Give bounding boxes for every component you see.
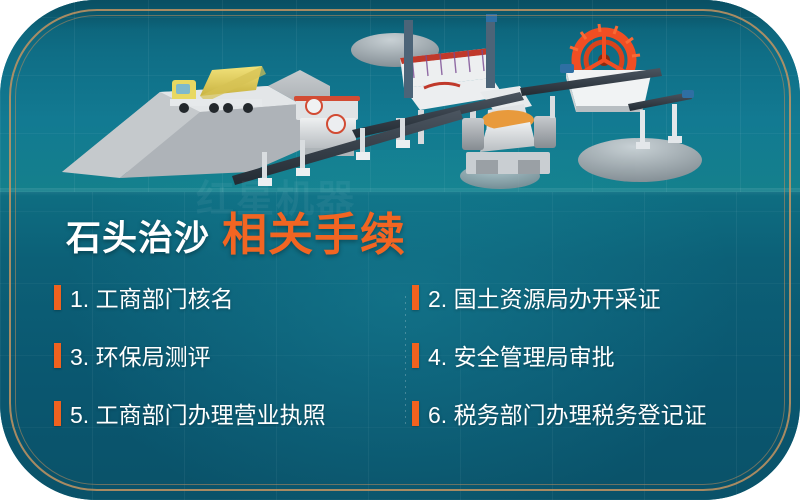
sand-washer-icon bbox=[560, 24, 652, 112]
list-item-label: 2. 国土资源局办开采证 bbox=[428, 280, 661, 314]
bullet-bar-icon bbox=[54, 343, 61, 368]
bullet-bar-icon bbox=[412, 285, 419, 310]
procedure-list: 1. 工商部门核名 2. 国土资源局办开采证 3. 环保局测评 4. 安全管理局… bbox=[54, 268, 754, 442]
list-item-label: 5. 工商部门办理营业执照 bbox=[70, 396, 326, 430]
production-line-svg bbox=[0, 0, 800, 200]
list-item: 1. 工商部门核名 bbox=[54, 268, 412, 326]
bullet-bar-icon bbox=[54, 401, 61, 426]
list-item-label: 3. 环保局测评 bbox=[70, 338, 211, 372]
list-item-label: 6. 税务部门办理税务登记证 bbox=[428, 396, 707, 430]
poster-card: 红星机器 石头治沙 相关手续 1. 工商部门核名 2. 国土资源局办开采证 3.… bbox=[0, 0, 800, 500]
list-item: 6. 税务部门办理税务登记证 bbox=[412, 384, 754, 442]
list-item: 2. 国土资源局办开采证 bbox=[412, 268, 754, 326]
production-line-illustration bbox=[0, 0, 800, 200]
page-title: 石头治沙 相关手续 bbox=[66, 198, 406, 263]
list-item-label: 4. 安全管理局审批 bbox=[428, 338, 615, 372]
poster-root: 红星机器 石头治沙 相关手续 1. 工商部门核名 2. 国土资源局办开采证 3.… bbox=[0, 0, 800, 500]
list-item: 5. 工商部门办理营业执照 bbox=[54, 384, 412, 442]
bullet-bar-icon bbox=[412, 343, 419, 368]
title-orange-part: 相关手续 bbox=[222, 198, 406, 263]
bullet-bar-icon bbox=[412, 401, 419, 426]
list-item-label: 1. 工商部门核名 bbox=[70, 280, 234, 314]
dump-truck-icon bbox=[170, 66, 266, 113]
bullet-bar-icon bbox=[54, 285, 61, 310]
list-item: 3. 环保局测评 bbox=[54, 326, 412, 384]
title-white-part: 石头治沙 bbox=[66, 210, 210, 261]
list-item: 4. 安全管理局审批 bbox=[412, 326, 754, 384]
